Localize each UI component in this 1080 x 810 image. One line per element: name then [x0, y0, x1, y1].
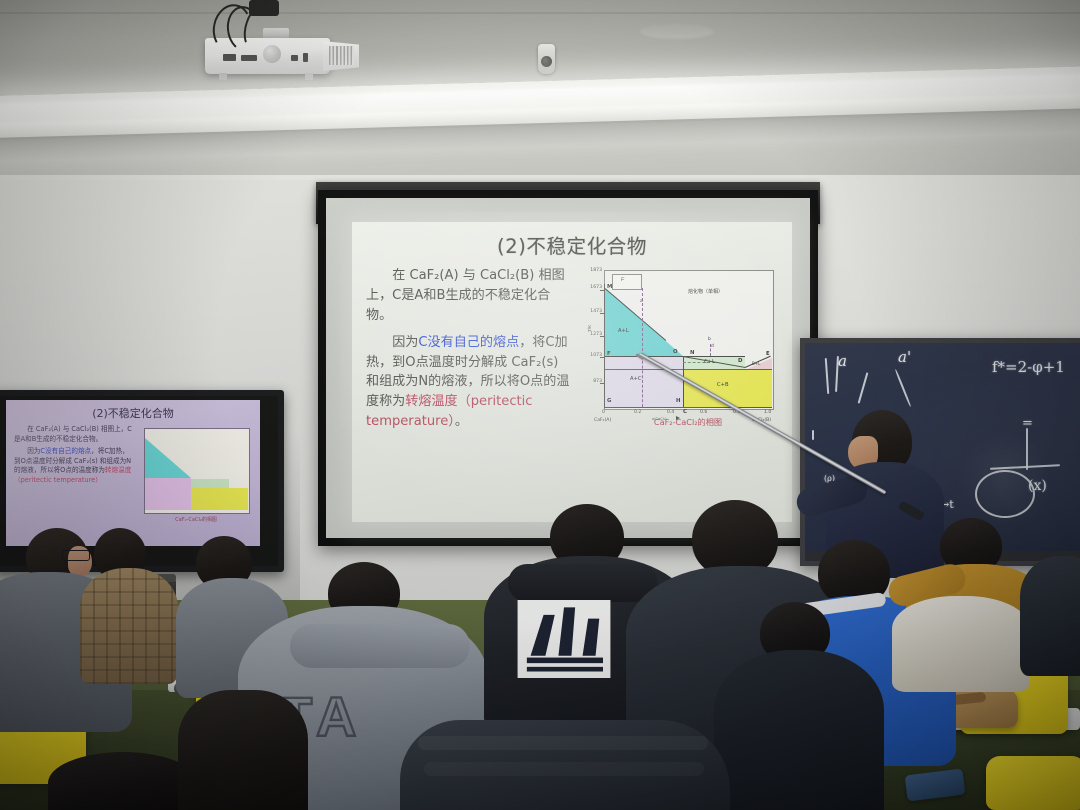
point-label-H: H — [676, 398, 681, 404]
slide-paragraph-2: 因为C没有自己的熔点，将C加热，到O点温度时分解成 CaF₂(s) 和组成为N的… — [366, 333, 574, 432]
adidas-trefoil-icon — [516, 600, 612, 678]
point-label-N: N — [690, 350, 695, 356]
y-tickmark-2 — [600, 313, 605, 314]
slide-body-text: 在 CaF₂(A) 与 CaCl₂(B) 相图上，C是A和B生成的不稳定化合物。… — [366, 266, 574, 439]
chalk-note-a: a — [838, 352, 847, 370]
region-label-c-plus-l: C+L — [704, 359, 715, 365]
diagram-legend-symbol: F — [621, 277, 624, 283]
y-tick-873: 873 — [580, 379, 602, 384]
y-tickmark-4 — [600, 357, 605, 358]
point-label-b: b — [708, 337, 711, 342]
chalk-formula: f*=2-φ+1 — [992, 358, 1065, 376]
p2-part1: 因为 — [392, 335, 418, 350]
chalk-vertical-bar — [1026, 428, 1028, 470]
chair-yellow-right-2 — [986, 756, 1080, 810]
peritectic-horizontal-line — [605, 356, 745, 357]
slide-title: (2)不稳定化合物 — [352, 230, 792, 259]
chalk-note-a-prime: a' — [898, 348, 911, 366]
projector-lens-dial — [263, 45, 281, 63]
region-label-a-plus-c: A+C — [630, 376, 642, 382]
y-tick-1873: 1873 — [580, 268, 602, 273]
student-14-head-foreground — [178, 690, 308, 810]
y-tick-1673: 1673 — [580, 285, 602, 290]
diagram-x-axis — [604, 407, 772, 408]
student-2-plaid-pattern — [80, 568, 178, 684]
student-5-hood — [508, 564, 658, 602]
point-label-a: a — [640, 299, 643, 304]
ceiling-camera-lens-icon — [541, 56, 552, 67]
diagram-legend-box — [612, 274, 642, 290]
student-10-coat — [1020, 556, 1080, 676]
chalk-circle-shape — [975, 470, 1035, 518]
x-tick-06: 0.6 — [700, 410, 707, 415]
lecture-slide: (2)不稳定化合物 在 CaF₂(A) 与 CaCl₂(B) 相图上，C是A和B… — [352, 222, 792, 522]
point-label-D: D — [738, 358, 742, 364]
y-tick-1473: 1473 — [580, 309, 602, 314]
point-label-E: E — [766, 351, 770, 357]
region-label-melt: 熔化物（单相） — [688, 288, 723, 295]
student-11-coat — [714, 650, 884, 810]
x-tick-0: 0 — [602, 410, 605, 415]
chalk-stroke-3 — [812, 430, 814, 440]
point-label-F: F — [607, 351, 611, 357]
projector-foot-left — [219, 73, 227, 80]
ceiling-mounted-projector — [205, 30, 355, 82]
projector-port-power — [303, 53, 308, 62]
projector-port-hdmi — [223, 54, 236, 61]
projector-port-usb — [291, 55, 298, 61]
region-label-c-plus-b: C+B — [717, 382, 729, 388]
point-label-O: O — [673, 349, 678, 355]
student-1-glasses-icon — [62, 550, 90, 561]
projector-cable-clamp — [249, 0, 279, 16]
region-label-a-plus-l: A+L — [618, 328, 629, 334]
x-tick-02: 0.2 — [634, 410, 641, 415]
ceiling-vent — [640, 24, 714, 39]
student-4-hood — [290, 624, 470, 668]
monitor-screen-glare — [6, 400, 260, 546]
region-a-plus-c — [605, 356, 683, 407]
p2-red-emphasis: 转熔温度 — [405, 394, 457, 409]
phase-diagram: F 熔化物（单相） T/K 1873 1673 1473 1273 1073 8… — [580, 266, 780, 466]
eutectic-horizontal-line — [605, 369, 772, 370]
projector-port-vga — [241, 55, 257, 61]
p2-blue-emphasis: C没有自己的熔点 — [418, 335, 519, 350]
projector-vent — [329, 46, 354, 65]
diagram-y-axis — [604, 284, 605, 408]
student-13-head-foreground — [48, 752, 198, 810]
ceiling-seam — [0, 12, 1080, 14]
point-label-M: M — [607, 284, 612, 290]
region-label-b-plus-l: B+L — [752, 361, 760, 366]
slide-paragraph-1: 在 CaF₂(A) 与 CaCl₂(B) 相图上，C是A和B生成的不稳定化合物。 — [366, 266, 574, 326]
diagram-y-axis-label: T/K — [587, 325, 592, 332]
point-label-C: C — [683, 409, 687, 415]
puffer-seam-2 — [424, 762, 704, 776]
dashed-line-a-lower — [642, 356, 643, 407]
y-tick-1073: 1073 — [580, 353, 602, 358]
point-label-d: d — [711, 344, 714, 349]
p2-end: 。 — [455, 414, 468, 429]
student-9-cream-jacket — [892, 596, 1030, 692]
y-tick-1273: 1273 — [580, 332, 602, 337]
y-tickmark-5 — [600, 383, 605, 384]
y-tickmark-3 — [600, 336, 605, 337]
x-tick-10: 1.0 — [764, 410, 771, 415]
y-tickmark-1 — [600, 290, 605, 291]
point-label-G: G — [607, 398, 611, 404]
puffer-seam-1 — [418, 736, 708, 750]
projector-foot-right — [305, 73, 313, 80]
classroom-photo: (2)不稳定化合物 在 CaF₂(A) 与 CaCl₂(B) 相图上，C是A和B… — [0, 0, 1080, 810]
x-tick-04: 0.4 — [667, 410, 674, 415]
